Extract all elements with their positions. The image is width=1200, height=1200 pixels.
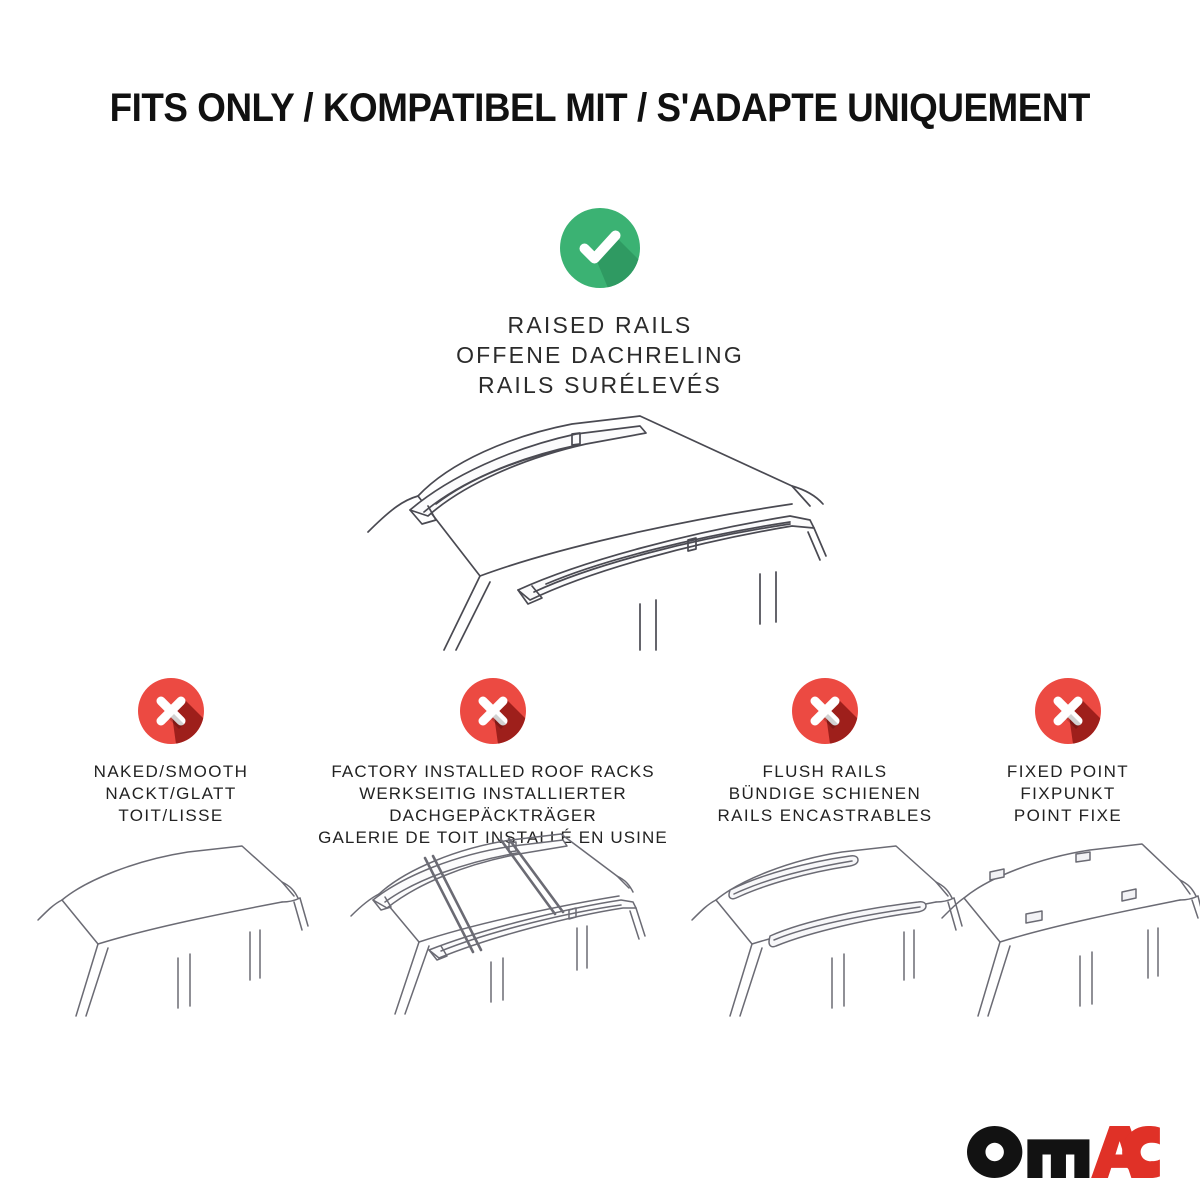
incompatible-label: FACTORY INSTALLED ROOF RACKS bbox=[300, 761, 686, 783]
compatible-labels: RAISED RAILS OFFENE DACHRELING RAILS SUR… bbox=[0, 310, 1200, 400]
incompatible-label: NACKT/GLATT bbox=[46, 783, 296, 805]
car-roof-flush-rails-illustration bbox=[682, 840, 968, 1020]
compatible-label-2: RAILS SURÉLEVÉS bbox=[0, 370, 1200, 400]
page-title: FITS ONLY / KOMPATIBEL MIT / S'ADAPTE UN… bbox=[0, 84, 1200, 132]
incompatible-labels-fixed-point: FIXED POINT FIXPUNKT POINT FIXE bbox=[962, 761, 1174, 827]
incompatible-section: NAKED/SMOOTH NACKT/GLATT TOIT/LISSE bbox=[0, 678, 1200, 1078]
car-roof-factory-racks-illustration bbox=[333, 818, 653, 1018]
check-circle-icon bbox=[560, 208, 640, 288]
incompatible-label: POINT FIXE bbox=[962, 805, 1174, 827]
incompatible-item-naked-smooth: NAKED/SMOOTH NACKT/GLATT TOIT/LISSE bbox=[46, 678, 296, 827]
incompatible-label: FIXPUNKT bbox=[962, 783, 1174, 805]
car-roof-raised-rails-illustration bbox=[340, 400, 860, 660]
x-circle-icon bbox=[1035, 678, 1101, 744]
incompatible-label: TOIT/LISSE bbox=[46, 805, 296, 827]
incompatible-labels-naked-smooth: NAKED/SMOOTH NACKT/GLATT TOIT/LISSE bbox=[46, 761, 296, 827]
incompatible-label: RAILS ENCASTRABLES bbox=[690, 805, 960, 827]
incompatible-label: FIXED POINT bbox=[962, 761, 1174, 783]
x-circle-icon bbox=[138, 678, 204, 744]
car-roof-fixed-point-illustration bbox=[934, 840, 1200, 1020]
compatible-label-1: OFFENE DACHRELING bbox=[0, 340, 1200, 370]
x-circle-icon bbox=[792, 678, 858, 744]
incompatible-label: WERKSEITIG INSTALLIERTER bbox=[300, 783, 686, 805]
incompatible-item-flush-rails: FLUSH RAILS BÜNDIGE SCHIENEN RAILS ENCAS… bbox=[690, 678, 960, 827]
incompatible-label: FLUSH RAILS bbox=[690, 761, 960, 783]
compatible-section: RAISED RAILS OFFENE DACHRELING RAILS SUR… bbox=[0, 208, 1200, 400]
incompatible-item-factory-racks: FACTORY INSTALLED ROOF RACKS WERKSEITIG … bbox=[300, 678, 686, 849]
logo-letter-o bbox=[967, 1126, 1022, 1178]
x-circle-icon bbox=[460, 678, 526, 744]
compatible-label-0: RAISED RAILS bbox=[0, 310, 1200, 340]
incompatible-label: BÜNDIGE SCHIENEN bbox=[690, 783, 960, 805]
incompatible-item-fixed-point: FIXED POINT FIXPUNKT POINT FIXE bbox=[962, 678, 1174, 827]
car-roof-naked-illustration bbox=[28, 840, 314, 1020]
page-title-text: FITS ONLY / KOMPATIBEL MIT / S'ADAPTE UN… bbox=[110, 84, 1090, 132]
incompatible-label: NAKED/SMOOTH bbox=[46, 761, 296, 783]
incompatible-labels-flush-rails: FLUSH RAILS BÜNDIGE SCHIENEN RAILS ENCAS… bbox=[690, 761, 960, 827]
logo-letter-m bbox=[1027, 1139, 1089, 1178]
omac-logo bbox=[967, 1124, 1160, 1180]
